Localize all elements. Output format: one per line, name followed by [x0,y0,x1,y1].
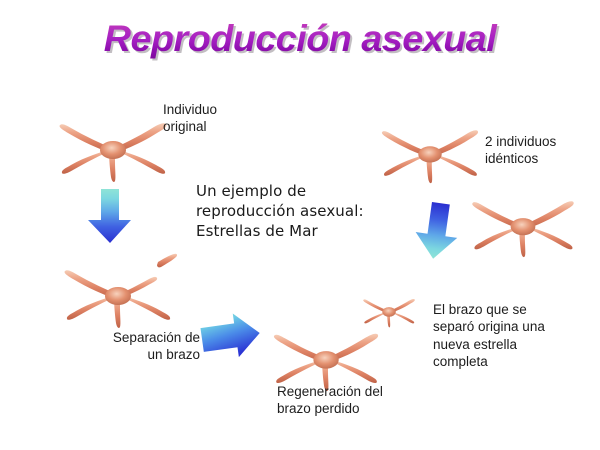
label-dos-individuos: 2 individuos idénticos [485,133,600,168]
detached-arm [157,254,177,268]
starfish-new-small [361,288,419,330]
page-title: Reproducción asexual [0,18,600,60]
label-individuo-original: Individuo original [163,101,283,136]
arrow-down-left [85,187,133,245]
arrow-up-right [409,197,465,265]
label-separacion: Separación de un brazo [70,329,200,364]
arrow-right-bottom [200,312,262,362]
diagram-canvas: Reproducción asexual [0,0,600,450]
starfish-identical-top [374,113,486,185]
center-note: Un ejemplo de reproducción asexual: Estr… [196,182,406,242]
label-brazo-nuevo: El brazo que se separó origina una nueva… [433,301,593,370]
starfish-identical-bottom [465,183,581,259]
starfish-separating [60,248,180,330]
label-regeneracion: Regeneración del brazo perdido [277,383,437,418]
starfish-original [57,104,169,184]
